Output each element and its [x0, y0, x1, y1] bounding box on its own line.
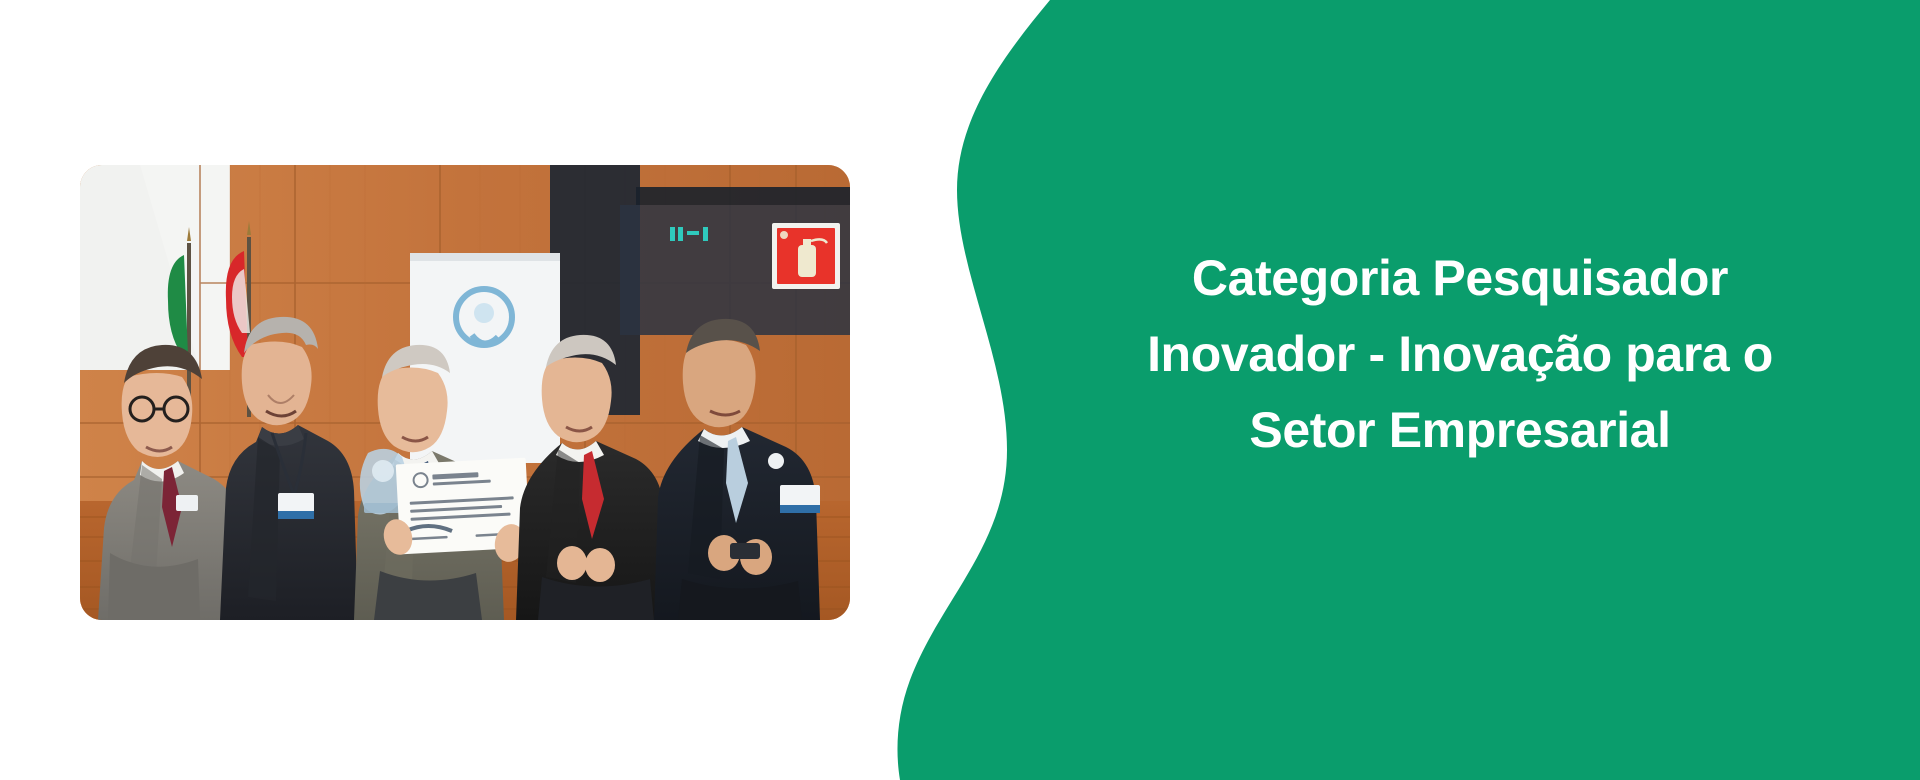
headline: Categoria Pesquisador Inovador - Inovaçã…: [1060, 240, 1860, 468]
headline-line-3: Setor Empresarial: [1060, 392, 1860, 468]
fire-extinguisher-sign: [772, 223, 840, 289]
award-category-banner: Categoria Pesquisador Inovador - Inovaçã…: [0, 0, 1920, 780]
award-ceremony-photo: [80, 165, 850, 620]
headline-line-2: Inovador - Inovação para o: [1060, 316, 1860, 392]
headline-line-1: Categoria Pesquisador: [1060, 240, 1860, 316]
